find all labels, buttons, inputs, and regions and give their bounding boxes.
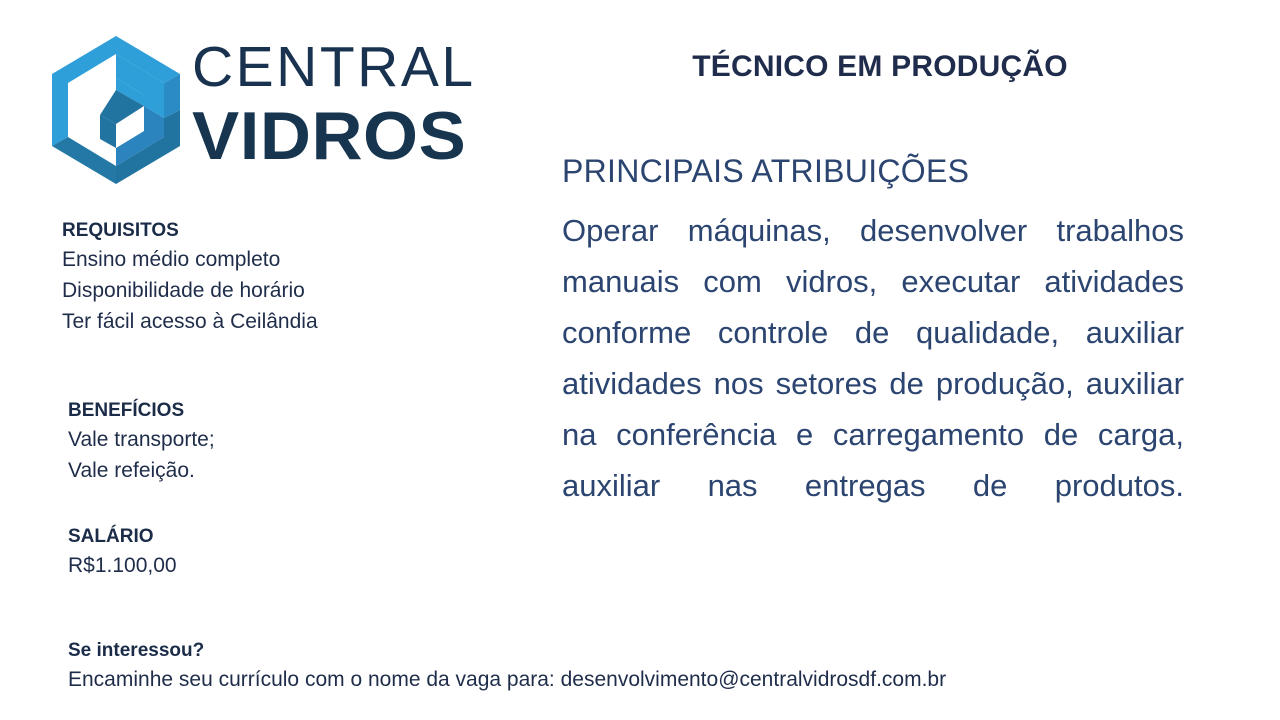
contact-instruction: Encaminhe seu currículo com o nome da va… <box>68 664 588 695</box>
logo-word-central: CENTRAL <box>192 34 492 100</box>
requirements-item: Ter fácil acesso à Ceilândia <box>62 306 582 337</box>
requirements-item: Ensino médio completo <box>62 244 582 275</box>
hexagon-c-logo-icon <box>48 32 184 188</box>
duties-heading: PRINCIPAIS ATRIBUIÇÕES <box>562 153 969 190</box>
right-column: TÉCNICO EM PRODUÇÃO PRINCIPAIS ATRIBUIÇÕ… <box>540 0 1280 720</box>
benefits-item: Vale transporte; <box>68 424 588 455</box>
logo-word-vidros: VIDROS <box>192 100 504 172</box>
benefits-section: BENEFÍCIOS Vale transporte; Vale refeiçã… <box>68 398 588 486</box>
salary-title: SALÁRIO <box>68 524 588 550</box>
duties-paragraph: Operar máquinas, desenvolver trabalhos m… <box>562 205 1184 562</box>
requirements-title: REQUISITOS <box>62 218 582 244</box>
contact-title: Se interessou? <box>68 638 588 664</box>
requirements-section: REQUISITOS Ensino médio completo Disponi… <box>62 218 582 337</box>
salary-value: R$1.100,00 <box>68 550 588 581</box>
company-logo: CENTRAL VIDROS <box>40 28 500 188</box>
job-posting-poster: CENTRAL VIDROS REQUISITOS Ensino médio c… <box>0 0 1280 720</box>
page-title: TÉCNICO EM PRODUÇÃO <box>560 50 1200 84</box>
requirements-item: Disponibilidade de horário <box>62 275 582 306</box>
left-column: CENTRAL VIDROS REQUISITOS Ensino médio c… <box>0 0 540 720</box>
contact-section: Se interessou? Encaminhe seu currículo c… <box>68 638 588 695</box>
logo-wordmark: CENTRAL VIDROS <box>192 34 492 184</box>
salary-section: SALÁRIO R$1.100,00 <box>68 524 588 581</box>
benefits-title: BENEFÍCIOS <box>68 398 588 424</box>
benefits-item: Vale refeição. <box>68 455 588 486</box>
